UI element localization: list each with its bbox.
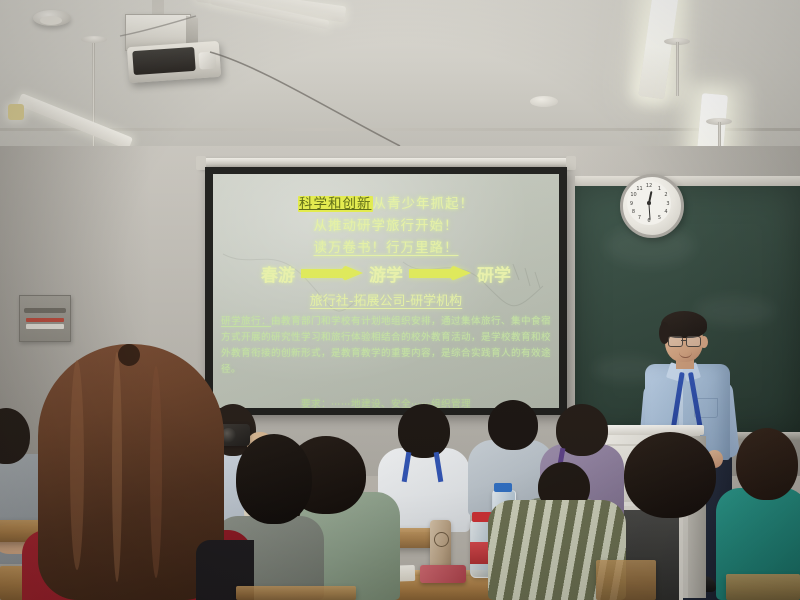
flow-step-2: 游学 bbox=[369, 261, 403, 286]
slide-body-text: 研学旅行：由教育部门和学校有计划地组织安排，通过集体旅行、集中食宿方式开展的研究… bbox=[221, 314, 551, 378]
flow-step-1: 春游 bbox=[261, 261, 295, 286]
slide-headline: 科学和创新从青少年抓起！ bbox=[213, 192, 559, 212]
teal-jacket-head bbox=[736, 428, 798, 500]
thermos-emblem-icon bbox=[434, 532, 449, 547]
wall-switch-box[interactable] bbox=[19, 295, 71, 342]
clock-numeral: 3 bbox=[665, 201, 672, 207]
clock-numeral: 9 bbox=[628, 201, 635, 207]
lectern-top bbox=[596, 425, 704, 435]
slide-body-lead: 研学旅行： bbox=[221, 316, 271, 327]
chair-back-1 bbox=[236, 586, 356, 600]
presenter-glasses-left-lens bbox=[668, 336, 683, 347]
presenter-glasses-bridge bbox=[681, 340, 686, 341]
slide-body-rest: 由教育部门和学校有计划地组织安排，通过集体旅行、集中食宿方式开展的研究性学习和旅… bbox=[221, 316, 551, 375]
striped-shirt-head bbox=[624, 432, 716, 518]
white-shirt-head bbox=[398, 404, 450, 458]
clock-numeral: 7 bbox=[636, 215, 643, 221]
classroom-photo: 12 1 2 3 4 5 6 7 8 9 10 11 科 bbox=[0, 0, 800, 600]
slide-line-3: 读万卷书！行万里路！ bbox=[213, 236, 559, 256]
smartphone[interactable] bbox=[420, 565, 466, 583]
clock-numeral: 2 bbox=[663, 192, 670, 198]
flow-step-3: 研学 bbox=[477, 261, 511, 286]
flow-arrow-icon-2 bbox=[409, 264, 471, 283]
chair-back-3 bbox=[726, 574, 800, 600]
screen-roller-cap-right bbox=[566, 156, 576, 170]
slide-headline-highlight: 科学和创新 bbox=[298, 196, 373, 212]
presenter-ear bbox=[700, 336, 708, 348]
clock-numeral: 12 bbox=[646, 183, 653, 189]
clock-face: 12 1 2 3 4 5 6 7 8 9 10 11 bbox=[627, 181, 671, 225]
flow-arrow-icon-1 bbox=[301, 264, 363, 283]
center-back-head bbox=[488, 400, 538, 450]
clock-numeral: 4 bbox=[663, 209, 670, 215]
projection-screen: 科学和创新从青少年抓起！ 从推动研学旅行开始！ 读万卷书！行万里路！ 春游 游学… bbox=[213, 174, 559, 408]
slide-subtitle: 旅行社-拓展公司-研学机构 bbox=[213, 290, 559, 309]
clock-numeral: 5 bbox=[656, 215, 663, 221]
clock-numeral: 10 bbox=[630, 192, 637, 198]
clock-numeral: 1 bbox=[656, 186, 663, 192]
water-bottle-blue-cap bbox=[494, 483, 512, 492]
clock-center-pin bbox=[647, 201, 651, 205]
presenter-glasses-right-lens bbox=[686, 336, 701, 347]
slide-flow-diagram: 春游 游学 研学 bbox=[213, 258, 559, 288]
clock-numeral: 8 bbox=[630, 209, 637, 215]
dark-ponytail-head bbox=[236, 434, 312, 524]
slide-content: 科学和创新从青少年抓起！ 从推动研学旅行开始！ 读万卷书！行万里路！ 春游 游学… bbox=[213, 174, 559, 408]
foreground-woman-crown bbox=[118, 344, 140, 366]
slide-headline-rest: 从青少年抓起！ bbox=[373, 196, 475, 212]
slide-line-2: 从推动研学旅行开始！ bbox=[213, 214, 559, 234]
chair-back-2 bbox=[596, 560, 656, 600]
clock-numeral: 11 bbox=[636, 186, 643, 192]
wall-clock: 12 1 2 3 4 5 6 7 8 9 10 11 bbox=[620, 174, 684, 238]
